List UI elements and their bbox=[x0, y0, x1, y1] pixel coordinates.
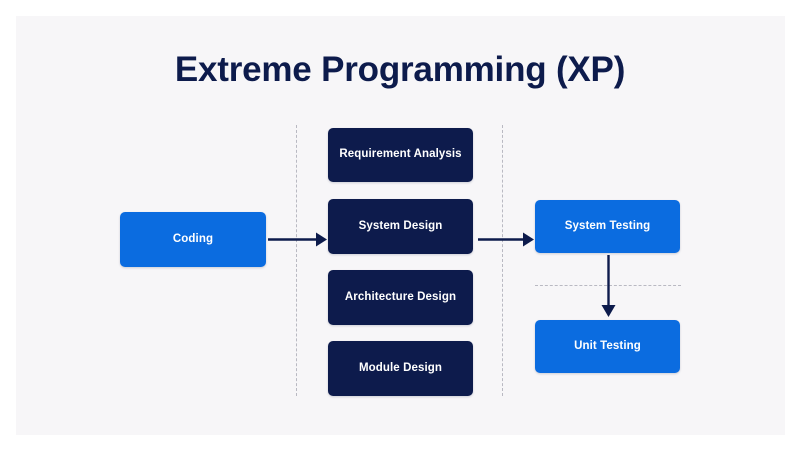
node-system-design-label: System Design bbox=[359, 220, 443, 234]
node-architecture-design[interactable]: Architecture Design bbox=[328, 270, 473, 325]
vertical-divider-right bbox=[502, 125, 503, 396]
node-unit-testing-label: Unit Testing bbox=[574, 340, 641, 354]
node-requirement-analysis[interactable]: Requirement Analysis bbox=[328, 128, 473, 182]
node-coding-label: Coding bbox=[173, 233, 213, 247]
node-module-design-label: Module Design bbox=[359, 362, 442, 376]
node-coding[interactable]: Coding bbox=[120, 212, 266, 267]
node-requirement-analysis-label: Requirement Analysis bbox=[339, 148, 461, 162]
arrow-design-to-system-testing bbox=[478, 231, 535, 248]
vertical-divider-left bbox=[296, 125, 297, 396]
diagram-canvas: Extreme Programming (XP) Coding Requirem… bbox=[0, 0, 800, 453]
arrow-coding-to-design bbox=[268, 231, 328, 248]
node-architecture-design-label: Architecture Design bbox=[345, 291, 456, 305]
node-module-design[interactable]: Module Design bbox=[328, 341, 473, 396]
node-unit-testing[interactable]: Unit Testing bbox=[535, 320, 680, 373]
arrow-system-testing-to-unit-testing bbox=[600, 255, 617, 318]
node-system-design[interactable]: System Design bbox=[328, 199, 473, 254]
node-system-testing-label: System Testing bbox=[565, 220, 651, 234]
page-title: Extreme Programming (XP) bbox=[0, 48, 800, 92]
node-system-testing[interactable]: System Testing bbox=[535, 200, 680, 253]
